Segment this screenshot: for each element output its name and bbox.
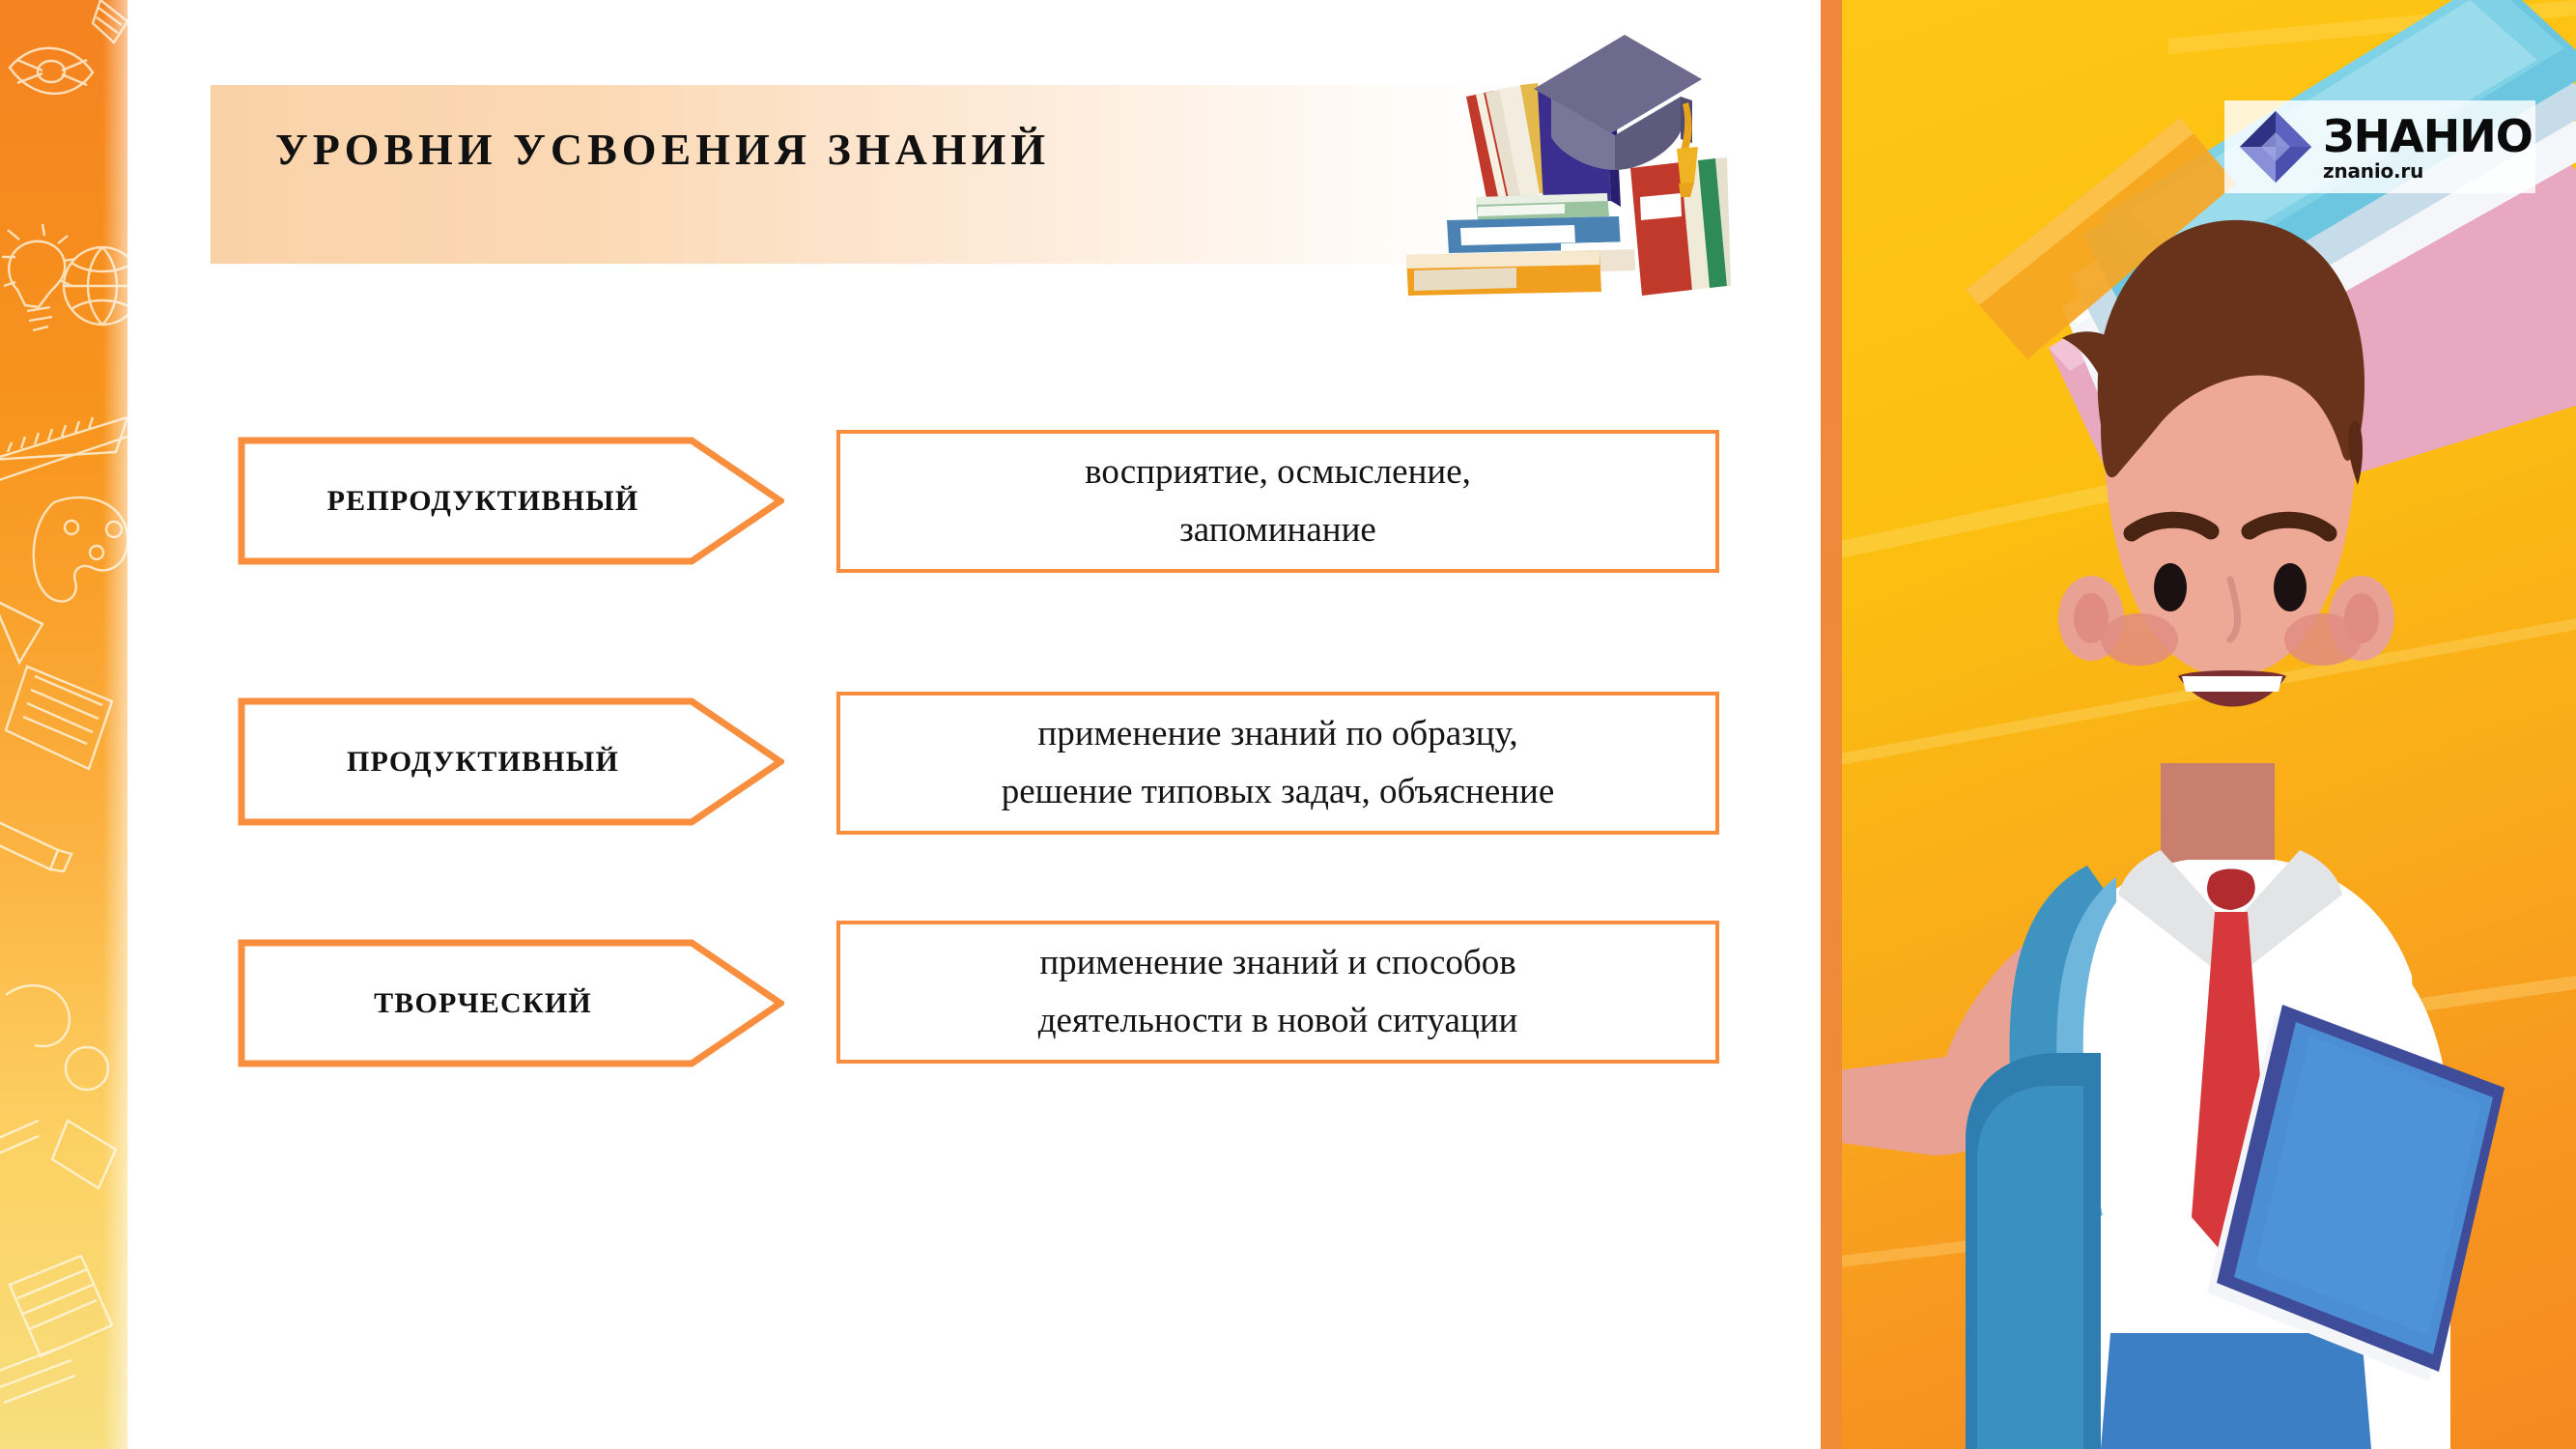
desc-line: запоминание xyxy=(1179,501,1376,559)
levels-diagram: РЕПРОДУКТИВНЫЙ восприятие, осмысление, з… xyxy=(0,0,2576,1449)
desc-line: применение знаний по образцу, xyxy=(1037,705,1517,763)
level-chevron-productive[interactable]: ПРОДУКТИВНЫЙ xyxy=(238,697,784,826)
level-description-creative: применение знаний и способов деятельност… xyxy=(836,921,1719,1064)
level-chevron-creative[interactable]: ТВОРЧЕСКИЙ xyxy=(238,939,784,1067)
books-stack-graduation-cap-icon xyxy=(1391,8,1731,309)
desc-line: восприятие, осмысление, xyxy=(1085,443,1471,501)
desc-line: применение знаний и способов xyxy=(1039,934,1515,992)
logo-domain: znanio.ru xyxy=(2323,161,2533,181)
level-description-reproductive: восприятие, осмысление, запоминание xyxy=(836,430,1719,573)
level-name: ПРОДУКТИВНЫЙ xyxy=(347,746,675,779)
desc-line: деятельности в новой ситуации xyxy=(1038,992,1518,1050)
panel-left-edge xyxy=(1821,0,1842,1449)
diamond-icon xyxy=(2238,109,2313,185)
level-name: РЕПРОДУКТИВНЫЙ xyxy=(327,485,695,518)
level-name: ТВОРЧЕСКИЙ xyxy=(374,987,648,1020)
desc-line: решение типовых задач, объяснение xyxy=(1002,763,1555,821)
logo-wordmark: ЗНАНИО xyxy=(2323,114,2533,158)
level-description-productive: применение знаний по образцу, решение ти… xyxy=(836,692,1719,835)
level-chevron-reproductive[interactable]: РЕПРОДУКТИВНЫЙ xyxy=(238,437,784,565)
slide-root: УРОВНИ УСВОЕНИЯ ЗНАНИЙ xyxy=(0,0,2576,1449)
znanio-logo[interactable]: ЗНАНИО znanio.ru xyxy=(2224,100,2535,193)
